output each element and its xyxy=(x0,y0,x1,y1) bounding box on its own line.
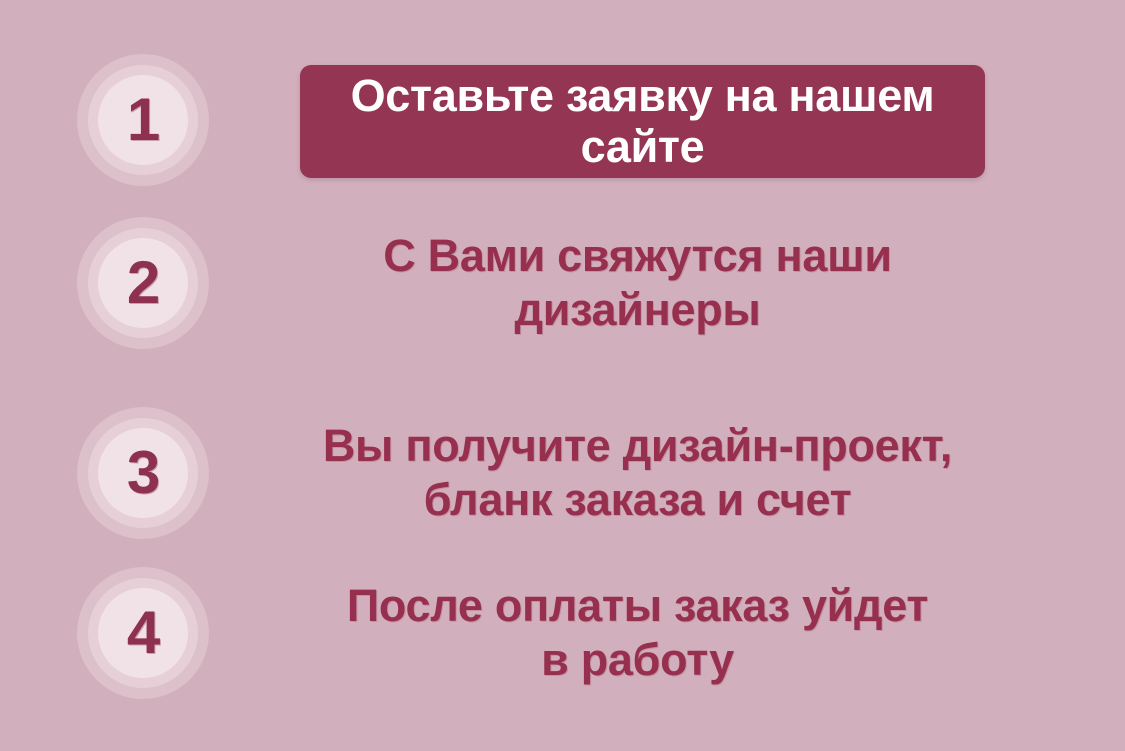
step-2-badge-wrap: 2 xyxy=(0,205,290,360)
step-number-badge-3: 3 xyxy=(77,407,209,539)
step-row-2: 2 С Вами свяжутся наши дизайнеры xyxy=(0,205,1125,360)
badge-number-2: 2 xyxy=(127,253,159,313)
badge-number-1: 1 xyxy=(127,90,159,150)
step-number-badge-4: 4 xyxy=(77,567,209,699)
step-4-line-2: в работу xyxy=(541,634,734,685)
step-1-badge-wrap: 1 xyxy=(0,40,290,200)
step-4-badge-wrap: 4 xyxy=(0,555,290,710)
step-row-4: 4 После оплаты заказ уйдет в работу xyxy=(0,555,1125,710)
step-3-badge-wrap: 3 xyxy=(0,395,290,550)
step-row-3: 3 Вы получите дизайн-проект, бланк заказ… xyxy=(0,395,1125,550)
step-4-text: После оплаты заказ уйдет в работу xyxy=(290,579,1125,685)
step-3-line-1: Вы получите дизайн-проект, xyxy=(323,420,952,471)
step-4-line-1: После оплаты заказ уйдет xyxy=(347,580,928,631)
step-number-badge-2: 2 xyxy=(77,217,209,349)
step-2-line-1: С Вами свяжутся наши xyxy=(383,230,891,281)
badge-number-3: 3 xyxy=(127,443,159,503)
step-2-line-2: дизайнеры xyxy=(514,284,760,335)
badge-core-1: 1 xyxy=(102,79,184,161)
step-number-badge-1: 1 xyxy=(77,54,209,186)
step-1-banner-line-2: сайте xyxy=(581,121,705,172)
steps-poster: 1 Оставьте заявку на нашем сайте 2 С Вам… xyxy=(0,0,1125,751)
badge-core-2: 2 xyxy=(102,242,184,324)
step-2-text: С Вами свяжутся наши дизайнеры xyxy=(290,229,1125,335)
step-1-banner-text: Оставьте заявку на нашем сайте xyxy=(351,71,935,172)
badge-core-4: 4 xyxy=(102,592,184,674)
badge-number-4: 4 xyxy=(127,603,159,663)
step-1-highlight-banner: Оставьте заявку на нашем сайте xyxy=(300,65,985,178)
step-1-banner-line-1: Оставьте заявку на нашем xyxy=(351,70,935,121)
badge-core-3: 3 xyxy=(102,432,184,514)
step-3-line-2: бланк заказа и счет xyxy=(424,474,852,525)
step-3-text: Вы получите дизайн-проект, бланк заказа … xyxy=(290,419,1125,525)
